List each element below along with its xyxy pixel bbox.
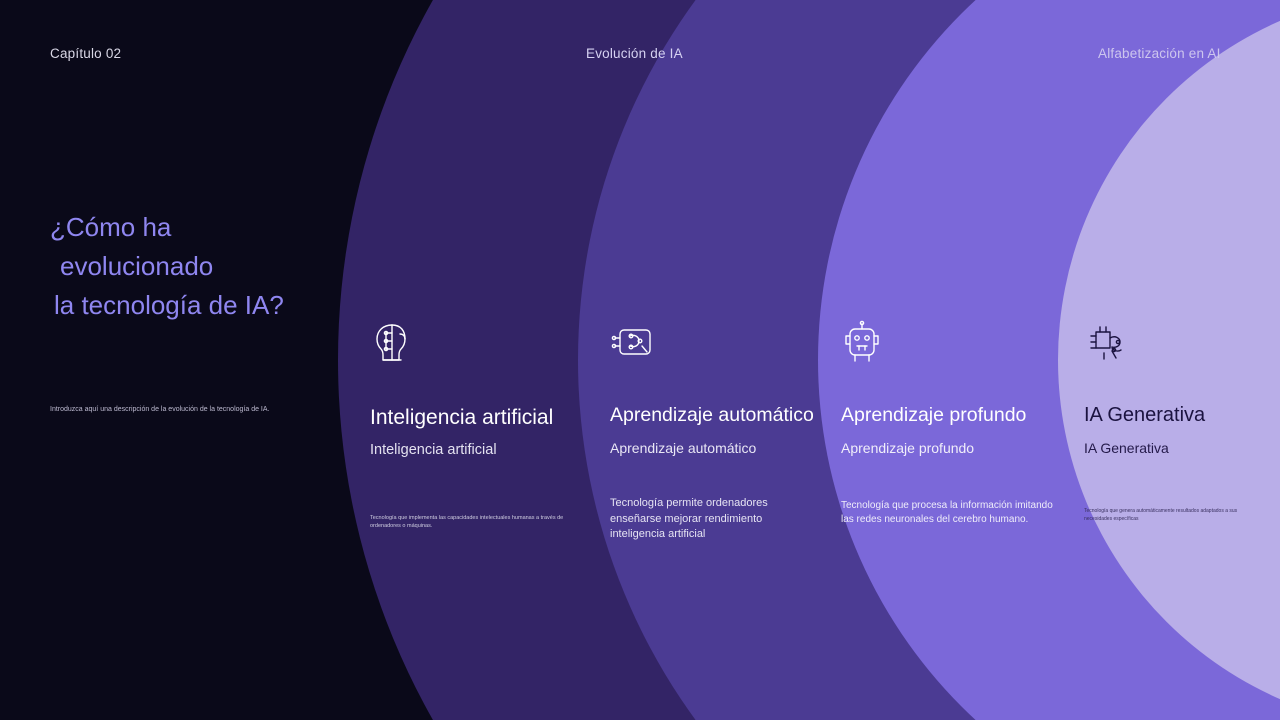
column-heading: Aprendizaje automático — [610, 404, 825, 427]
column-subtitle: Aprendizaje profundo — [841, 440, 1056, 456]
page-title-line-3: la tecnología de IA? — [50, 286, 350, 325]
column-subtitle: Aprendizaje automático — [610, 440, 825, 456]
page-title-line-2: evolucionado — [50, 247, 350, 286]
column-body: Tecnología que implementa las capacidade… — [370, 514, 580, 530]
column-heading: Inteligencia artificial — [370, 406, 585, 430]
left-description: Introduzca aquí una descripción de la ev… — [50, 405, 340, 415]
header-center-title: Evolución de IA — [586, 46, 683, 61]
column-body: Tecnología que genera automáticamente re… — [1084, 508, 1244, 523]
robot-icon — [841, 320, 1056, 372]
header-right-title: Alfabetización en AI — [1098, 46, 1221, 61]
column-heading: IA Generativa — [1084, 404, 1280, 427]
column-artificial-intelligence: Inteligencia artificial Inteligencia art… — [370, 320, 585, 530]
column-subtitle: IA Generativa — [1084, 440, 1280, 456]
generative-ai-icon — [1084, 320, 1280, 372]
ai-head-icon — [370, 320, 585, 372]
column-machine-learning: Aprendizaje automático Aprendizaje autom… — [610, 320, 825, 543]
column-body: Tecnología que procesa la información im… — [841, 499, 1053, 527]
column-deep-learning: Aprendizaje profundo Aprendizaje profund… — [841, 320, 1056, 527]
page-title-line-1: ¿Cómo ha — [50, 212, 171, 242]
slide-canvas: Capítulo 02 Evolución de IA Alfabetizaci… — [0, 0, 1280, 720]
header-chapter: Capítulo 02 — [50, 46, 121, 61]
page-title: ¿Cómo ha evolucionado la tecnología de I… — [50, 208, 350, 325]
column-heading: Aprendizaje profundo — [841, 404, 1056, 427]
column-generative-ai: IA Generativa IA Generativa Tecnología q… — [1084, 320, 1280, 523]
column-subtitle: Inteligencia artificial — [370, 442, 585, 458]
machine-learning-icon — [610, 320, 825, 372]
column-body: Tecnología permite ordenadores enseñarse… — [610, 496, 815, 543]
